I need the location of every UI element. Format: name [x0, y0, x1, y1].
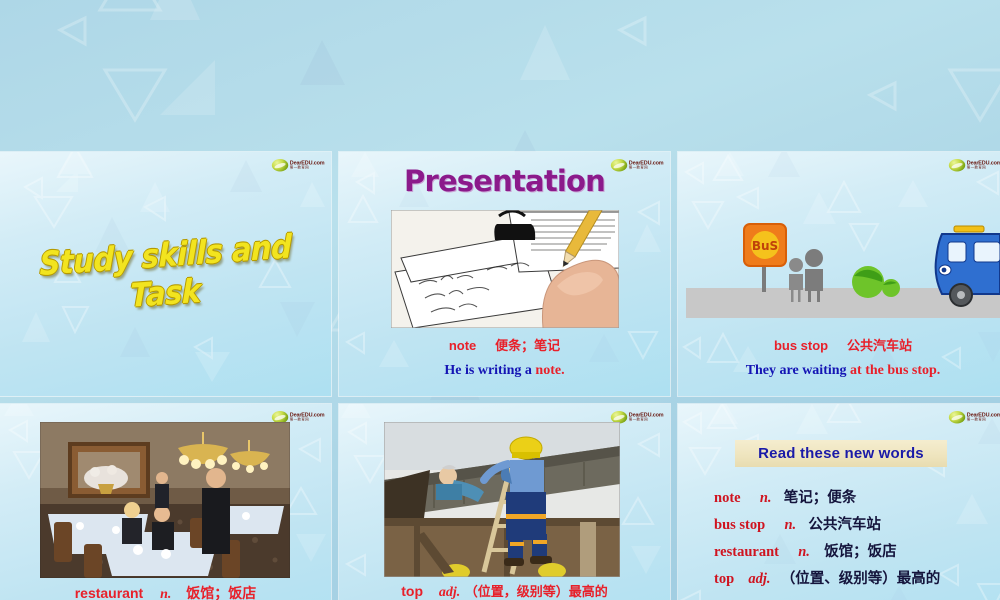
top-caption-pos: adj.	[439, 585, 460, 600]
word-pos: adj.	[748, 571, 770, 587]
word-cn: 笔记；便条	[784, 490, 857, 506]
note-caption-cn: 便条；笔记	[495, 339, 560, 354]
note-sentence-key: note	[535, 363, 561, 378]
bus-stop-scene: BuS	[686, 204, 1000, 318]
restaurant-photo	[40, 422, 290, 578]
slide-2-title: Presentation	[339, 164, 670, 198]
note-photo	[391, 210, 619, 328]
slide-thumbnail-top[interactable]: DearEDU.com 第一教育网	[339, 404, 670, 600]
bus-stop-sentence: They are waiting at the bus stop.	[678, 360, 1000, 380]
slide-thumbnail-restaurant[interactable]: DearEDU.com 第一教育网	[0, 404, 331, 600]
note-caption: note 便条；笔记	[339, 336, 670, 356]
dearedu-logo: DearEDU.com 第一教育网	[271, 159, 324, 171]
slide-1-title-text: Study skills and Task	[0, 224, 331, 323]
restaurant-caption-pos: n.	[160, 587, 171, 600]
restaurant-caption-en: restaurant	[75, 585, 143, 600]
word-cn: （位置、级别等）最高的	[781, 571, 941, 587]
dearedu-logo-subtitle: 第一教育网	[966, 166, 1000, 170]
dearedu-logo-icon	[948, 411, 964, 423]
word-pos: n.	[760, 490, 772, 506]
slide-thumbnail-bus-stop[interactable]: DearEDU.com 第一教育网 BuS	[678, 152, 1000, 396]
dearedu-logo-icon	[948, 159, 964, 171]
word-en: restaurant	[714, 544, 779, 560]
dearedu-logo: DearEDU.com 第一教育网	[948, 411, 1000, 423]
word-pos: n.	[784, 517, 796, 533]
dearedu-logo-subtitle: 第一教育网	[628, 418, 663, 422]
note-sentence-pre: He is writing a	[444, 363, 535, 378]
top-caption-en: top	[401, 583, 423, 599]
note-sentence-post: .	[561, 363, 565, 378]
top-roof-illustration	[384, 422, 620, 577]
word-row: bus stop n. 公共汽车站	[714, 513, 1000, 534]
dearedu-logo-subtitle: 第一教育网	[289, 418, 324, 422]
restaurant-caption-cn: 饭馆；饭店	[186, 586, 256, 600]
note-sentence: He is writing a note.	[339, 360, 670, 380]
bus-stop-caption-en: bus stop	[774, 338, 828, 353]
word-en: note	[714, 490, 741, 506]
word-pos: n.	[798, 544, 810, 560]
bus-sign-label: BuS	[752, 239, 778, 253]
word-cn: 饭馆；饭店	[824, 544, 897, 560]
word-cn: 公共汽车站	[808, 517, 881, 533]
bus-stop-sentence-key: at the bus stop	[850, 363, 937, 378]
bus-stop-caption: bus stop 公共汽车站	[678, 336, 1000, 356]
slide-grid: DearEDU.com 第一教育网 Study skills and Task	[0, 152, 1000, 600]
word-row: top adj. （位置、级别等）最高的	[714, 567, 1000, 588]
top-caption-cn: （位置，级别等）最高的	[465, 585, 608, 600]
slide-thumbnail-read-new-words[interactable]: DearEDU.com 第一教育网 Read these new words n…	[678, 404, 1000, 600]
note-caption-en: note	[449, 338, 476, 353]
read-new-words-heading: Read these new words	[758, 445, 924, 462]
slide-thumbnail-study-skills[interactable]: DearEDU.com 第一教育网 Study skills and Task	[0, 152, 331, 396]
dearedu-logo-subtitle: 第一教育网	[289, 166, 324, 170]
note-photo-illustration	[391, 210, 619, 328]
top-roof-photo	[384, 422, 620, 577]
bus-stop-sentence-post: .	[937, 363, 941, 378]
top-caption: top adj. （位置，级别等）最高的	[339, 582, 670, 600]
word-en: bus stop	[714, 517, 765, 533]
new-words-list: note n. 笔记；便条 bus stop n. 公共汽车站 restaura…	[714, 486, 1000, 594]
word-row: restaurant n. 饭馆；饭店	[714, 540, 1000, 561]
slide-thumbnail-note[interactable]: DearEDU.com 第一教育网 Presentation	[339, 152, 670, 396]
bus-stop-sentence-pre: They are waiting	[746, 363, 850, 378]
restaurant-photo-illustration	[40, 422, 290, 578]
dearedu-logo: DearEDU.com 第一教育网	[948, 159, 1000, 171]
slide-1-title: Study skills and Task	[0, 240, 331, 308]
word-row: note n. 笔记；便条	[714, 486, 1000, 507]
restaurant-caption: restaurant n. 饭馆；饭店	[0, 584, 331, 600]
slide-viewer: DearEDU.com 第一教育网 Study skills and Task	[0, 0, 1000, 600]
bus-stop-caption-cn: 公共汽车站	[847, 339, 912, 354]
read-new-words-banner: Read these new words	[735, 440, 947, 467]
bus-stop-illustration: BuS	[686, 204, 1000, 318]
dearedu-logo-subtitle: 第一教育网	[966, 418, 1000, 422]
dearedu-logo-icon	[271, 159, 287, 171]
word-en: top	[714, 571, 734, 587]
